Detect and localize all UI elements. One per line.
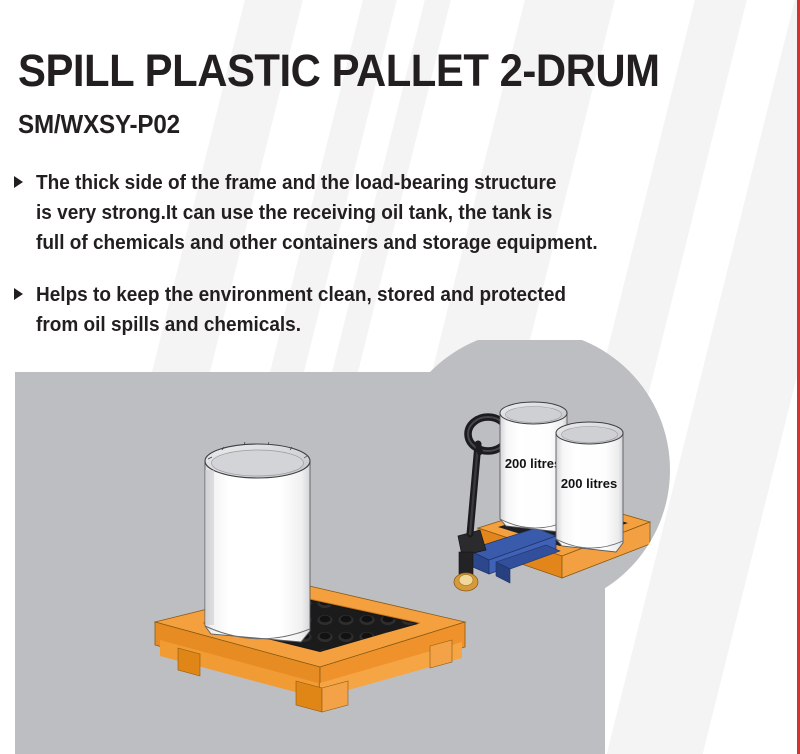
page-title: SPILL PLASTIC PALLET 2-DRUM (18, 48, 660, 94)
triangle-bullet-icon (14, 176, 30, 188)
feature-item: The thick side of the frame and the load… (14, 168, 714, 258)
feature-list: The thick side of the frame and the load… (14, 168, 714, 362)
feature-text: Helps to keep the environment clean, sto… (36, 280, 566, 340)
inset-drum-label-1: 200 litres (505, 456, 561, 471)
feature-text: The thick side of the frame and the load… (36, 168, 598, 258)
triangle-bullet-icon (14, 288, 30, 300)
feature-item: Helps to keep the environment clean, sto… (14, 280, 714, 340)
model-code: SM/WXSY-P02 (18, 110, 180, 138)
product-imagery: 200 litres 200 litres (0, 340, 800, 754)
inset-drum-label-2: 200 litres (561, 476, 617, 491)
